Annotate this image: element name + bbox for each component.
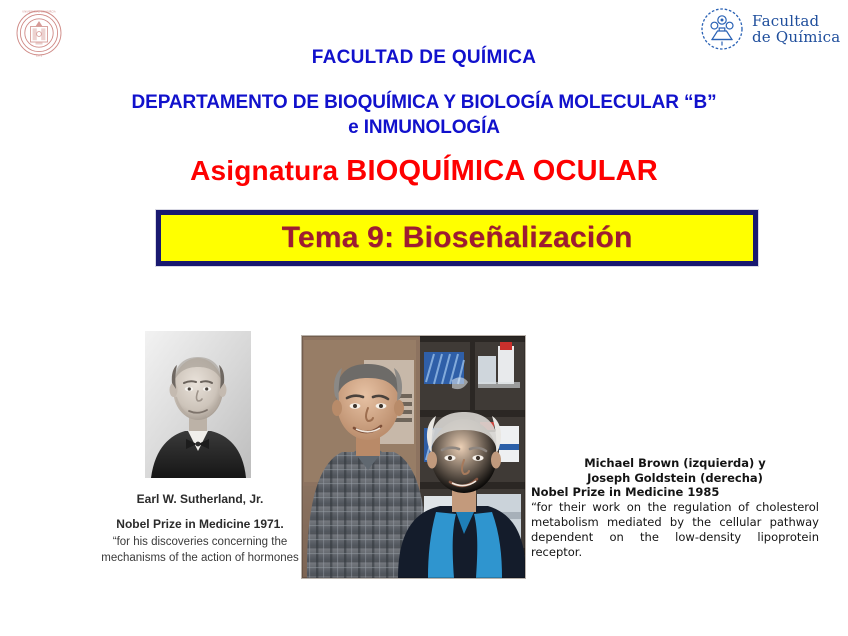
sutherland-prize-text: Nobel Prize in Medicine 1971 [116,517,280,531]
heading-department-line2: e INMUNOLOGÍA [0,115,848,140]
heading-subject-name: BIOQUÍMICA OCULAR [346,155,658,187]
heading-department-line1: DEPARTAMENTO DE BIOQUÍMICA Y BIOLOGÍA MO… [0,90,848,115]
heading-faculty: FACULTAD DE QUÍMICA [0,47,848,69]
brown-goldstein-photo [302,336,525,578]
faculty-logo-line1: Facultad [752,13,840,29]
heading-subject-prefix: Asignatura [190,155,346,186]
heading-subject: Asignatura BIOQUÍMICA OCULAR [0,155,848,188]
brown-goldstein-laboratory-image [302,336,525,578]
sutherland-caption-body: “for his discoveries concerning the mech… [86,534,314,566]
svg-text:UNIVERSIDAD DE MURCIA: UNIVERSIDAD DE MURCIA [22,9,56,13]
sutherland-caption: Earl W. Sutherland, Jr. Nobel Prize in M… [86,491,314,566]
bg-caption-body: “for their work on the regulation of cho… [531,500,819,560]
sutherland-caption-name: Earl W. Sutherland, Jr. [86,491,314,507]
topic-title-text: Tema 9: Bioseñalización [282,221,633,255]
bg-caption-names-line1: Michael Brown (izquierda) y [531,456,819,471]
earl-sutherland-photo [145,331,251,478]
bg-caption-names-line2: Joseph Goldstein (derecha) [531,471,819,486]
brown-goldstein-caption: Michael Brown (izquierda) y Joseph Golds… [531,456,819,560]
facultad-de-quimica-logo: Facultad de Química [700,6,842,52]
faculty-logo-text: Facultad de Química [752,13,840,45]
sutherland-portrait-image [145,331,251,478]
faculty-logo-line2: de Química [752,29,840,45]
sutherland-caption-prize: Nobel Prize in Medicine 1971. [86,516,314,532]
slide-canvas: UNIVERSIDAD DE MURCIA · 1272 · Facultad … [0,0,848,636]
topic-title-box: Tema 9: Bioseñalización [156,210,758,266]
chemistry-flask-emblem-icon [700,7,744,51]
bg-caption-prize: Nobel Prize in Medicine 1985 [531,485,819,500]
sutherland-prize-period: . [280,517,283,531]
heading-department: DEPARTAMENTO DE BIOQUÍMICA Y BIOLOGÍA MO… [0,90,848,140]
